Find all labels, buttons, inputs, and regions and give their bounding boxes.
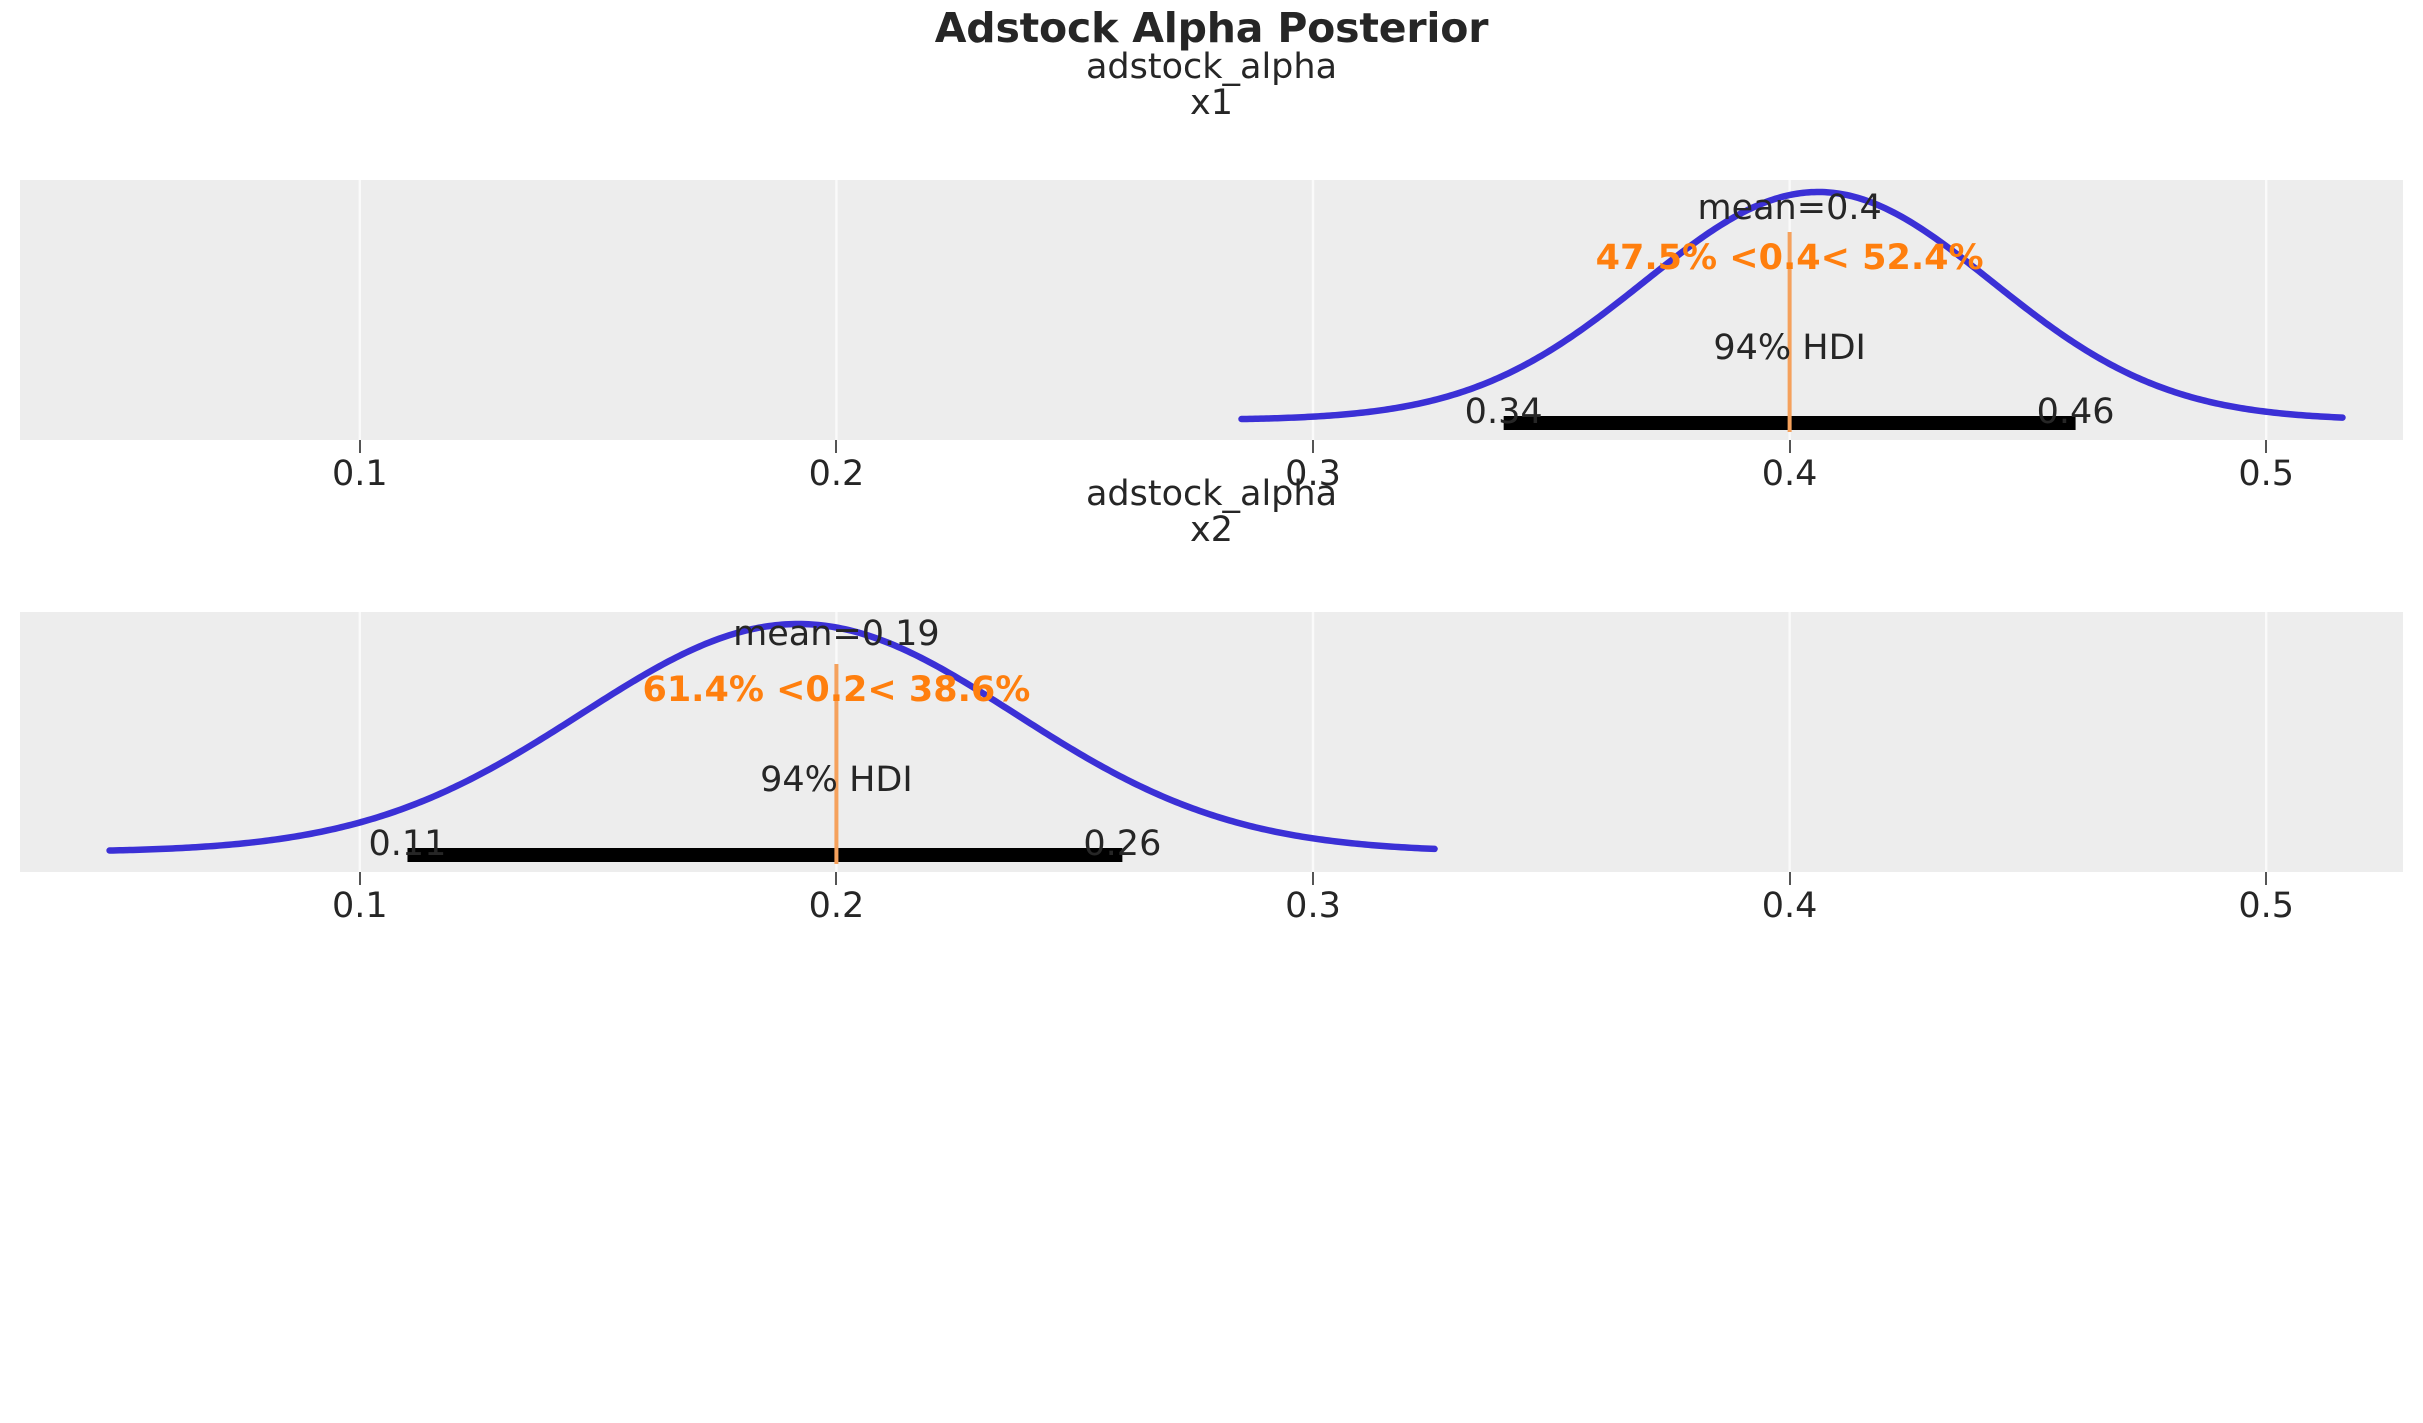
x-tick-mark	[835, 440, 837, 453]
hdi-high-label-x1: 0.46	[2037, 392, 2115, 432]
hdi-low-label-x2: 0.11	[369, 824, 447, 864]
hdi-label-x2: 94% HDI	[760, 760, 913, 800]
hdi-high-label-x2: 0.26	[1083, 824, 1161, 864]
rope-label-x1: 47.5% <0.4< 52.4%	[1596, 238, 1984, 278]
x-tick-label: 0.2	[809, 886, 865, 926]
x-tick-label: 0.3	[1285, 886, 1341, 926]
kde-curve	[110, 624, 1435, 851]
x-axis-x2: 0.10.20.30.40.5	[20, 872, 2403, 932]
x-tick-mark	[1789, 440, 1791, 453]
posterior-figure: Adstock Alpha Posterior adstock_alpha x1…	[0, 0, 2423, 1423]
x-tick-mark	[2265, 872, 2267, 885]
x-tick-mark	[1789, 872, 1791, 885]
x-tick-mark	[359, 440, 361, 453]
x-tick-mark	[1312, 440, 1314, 453]
x-tick-mark	[835, 872, 837, 885]
x-tick-label: 0.4	[1762, 886, 1818, 926]
hdi-label-x1: 94% HDI	[1713, 328, 1866, 368]
x-tick-mark	[1312, 872, 1314, 885]
x-tick-label: 0.5	[2238, 886, 2294, 926]
panel-title-x1: adstock_alpha x1	[0, 50, 2423, 121]
panel-title-x2: adstock_alpha x2	[0, 477, 2423, 548]
mean-label-x1: mean=0.4	[1697, 188, 1881, 228]
mean-label-x2: mean=0.19	[733, 614, 940, 654]
figure-title: Adstock Alpha Posterior	[0, 4, 2423, 52]
x-tick-label: 0.1	[332, 886, 388, 926]
x-tick-mark	[2265, 440, 2267, 453]
x-tick-mark	[359, 872, 361, 885]
hdi-low-label-x1: 0.34	[1465, 392, 1543, 432]
rope-label-x2: 61.4% <0.2< 38.6%	[642, 670, 1030, 710]
